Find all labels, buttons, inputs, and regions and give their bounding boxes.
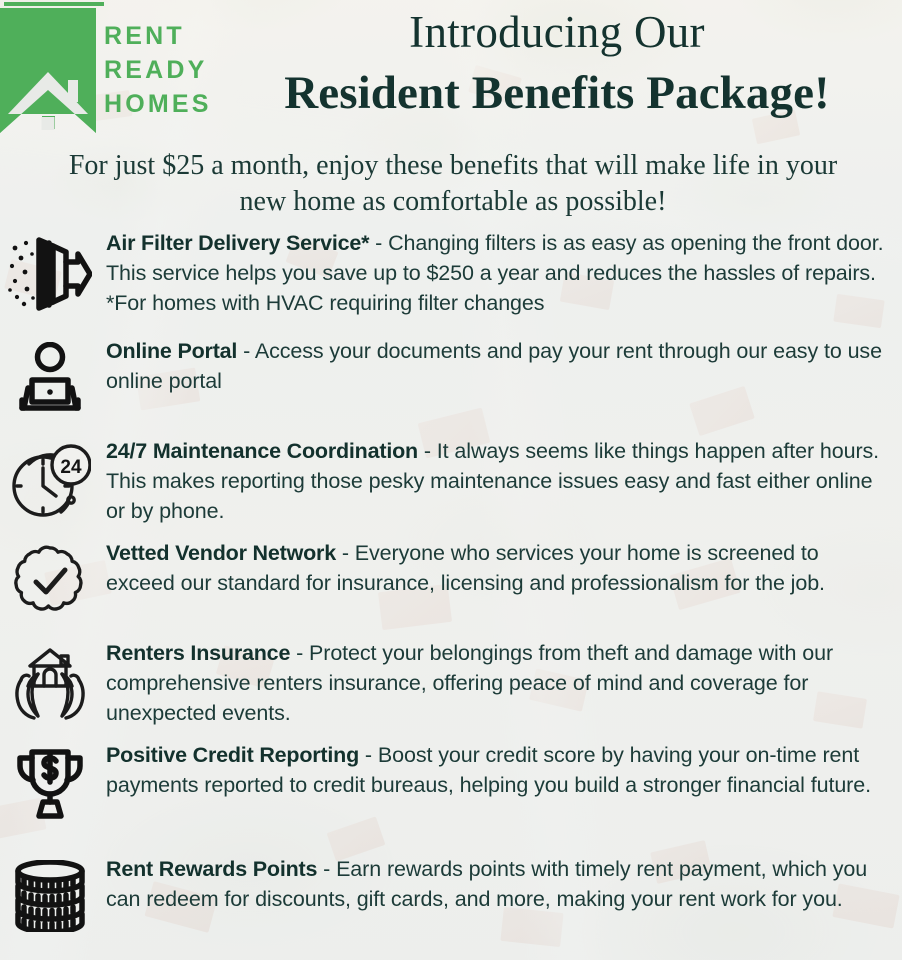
verified-badge-check-icon xyxy=(10,544,90,622)
hands-holding-house-icon xyxy=(8,644,92,722)
logo-line-2: READY xyxy=(104,54,212,86)
benefit-separator: - xyxy=(237,339,255,363)
benefit-text: Online Portal - Access your documents an… xyxy=(100,336,896,396)
benefit-separator: - xyxy=(359,743,378,767)
person-laptop-icon xyxy=(10,342,90,416)
clock-24-icon: 24 xyxy=(9,442,91,522)
benefit-separator: - xyxy=(317,857,336,881)
benefit-icon-cell xyxy=(0,228,100,314)
benefit-text: Vetted Vendor Network - Everyone who ser… xyxy=(100,538,896,598)
benefit-icon-cell xyxy=(0,638,100,724)
house-banner-logo-icon xyxy=(0,8,96,133)
list-item: Air Filter Delivery Service* - Changing … xyxy=(0,228,902,318)
list-item: Online Portal - Access your documents an… xyxy=(0,336,902,422)
benefit-separator: - xyxy=(369,231,388,255)
benefit-text: 24/7 Maintenance Coordination - It alway… xyxy=(100,436,896,526)
list-item: Vetted Vendor Network - Everyone who ser… xyxy=(0,538,902,624)
benefit-text: Air Filter Delivery Service* - Changing … xyxy=(100,228,896,318)
benefit-text: Rent Rewards Points - Earn rewards point… xyxy=(100,854,896,914)
benefits-list: Air Filter Delivery Service* - Changing … xyxy=(0,228,902,940)
benefit-icon-cell xyxy=(0,336,100,422)
benefit-icon-cell xyxy=(0,740,100,826)
benefit-separator: - xyxy=(336,541,355,565)
list-item: Positive Credit Reporting - Boost your c… xyxy=(0,740,902,826)
trophy-dollar-icon xyxy=(10,746,90,822)
page-subtitle: For just $25 a month, enjoy these benefi… xyxy=(48,148,858,220)
benefit-title: Positive Credit Reporting xyxy=(106,743,359,767)
logo-line-1: RENT xyxy=(104,20,212,52)
benefit-title: Air Filter Delivery Service* xyxy=(106,231,369,255)
brand-logo[interactable]: RENT READY HOMES xyxy=(0,0,212,140)
benefit-icon-cell: 24 xyxy=(0,436,100,522)
logo-line-3: HOMES xyxy=(104,88,212,120)
page-title: Introducing Our Resident Benefits Packag… xyxy=(212,2,902,124)
logo-top-rule xyxy=(4,2,104,6)
benefit-title: Rent Rewards Points xyxy=(106,857,317,881)
title-line-1: Introducing Our xyxy=(212,2,902,62)
svg-text:24: 24 xyxy=(60,457,82,478)
air-filter-icon xyxy=(8,234,92,314)
benefit-separator: - xyxy=(290,641,309,665)
benefit-title: Online Portal xyxy=(106,339,237,363)
benefit-icon-cell xyxy=(0,854,100,940)
coin-stack-icon xyxy=(8,860,92,932)
benefit-icon-cell xyxy=(0,538,100,624)
benefit-title: Vetted Vendor Network xyxy=(106,541,336,565)
benefit-title: 24/7 Maintenance Coordination xyxy=(106,439,418,463)
title-line-2: Resident Benefits Package! xyxy=(212,62,902,124)
list-item: Renters Insurance - Protect your belongi… xyxy=(0,638,902,728)
list-item: Rent Rewards Points - Earn rewards point… xyxy=(0,854,902,940)
benefit-text: Positive Credit Reporting - Boost your c… xyxy=(100,740,896,800)
benefit-separator: - xyxy=(418,439,437,463)
benefit-text: Renters Insurance - Protect your belongi… xyxy=(100,638,896,728)
list-item: 24 24/7 Maintenance Coordination - It al… xyxy=(0,436,902,526)
logo-wordmark: RENT READY HOMES xyxy=(104,0,212,140)
benefit-title: Renters Insurance xyxy=(106,641,290,665)
